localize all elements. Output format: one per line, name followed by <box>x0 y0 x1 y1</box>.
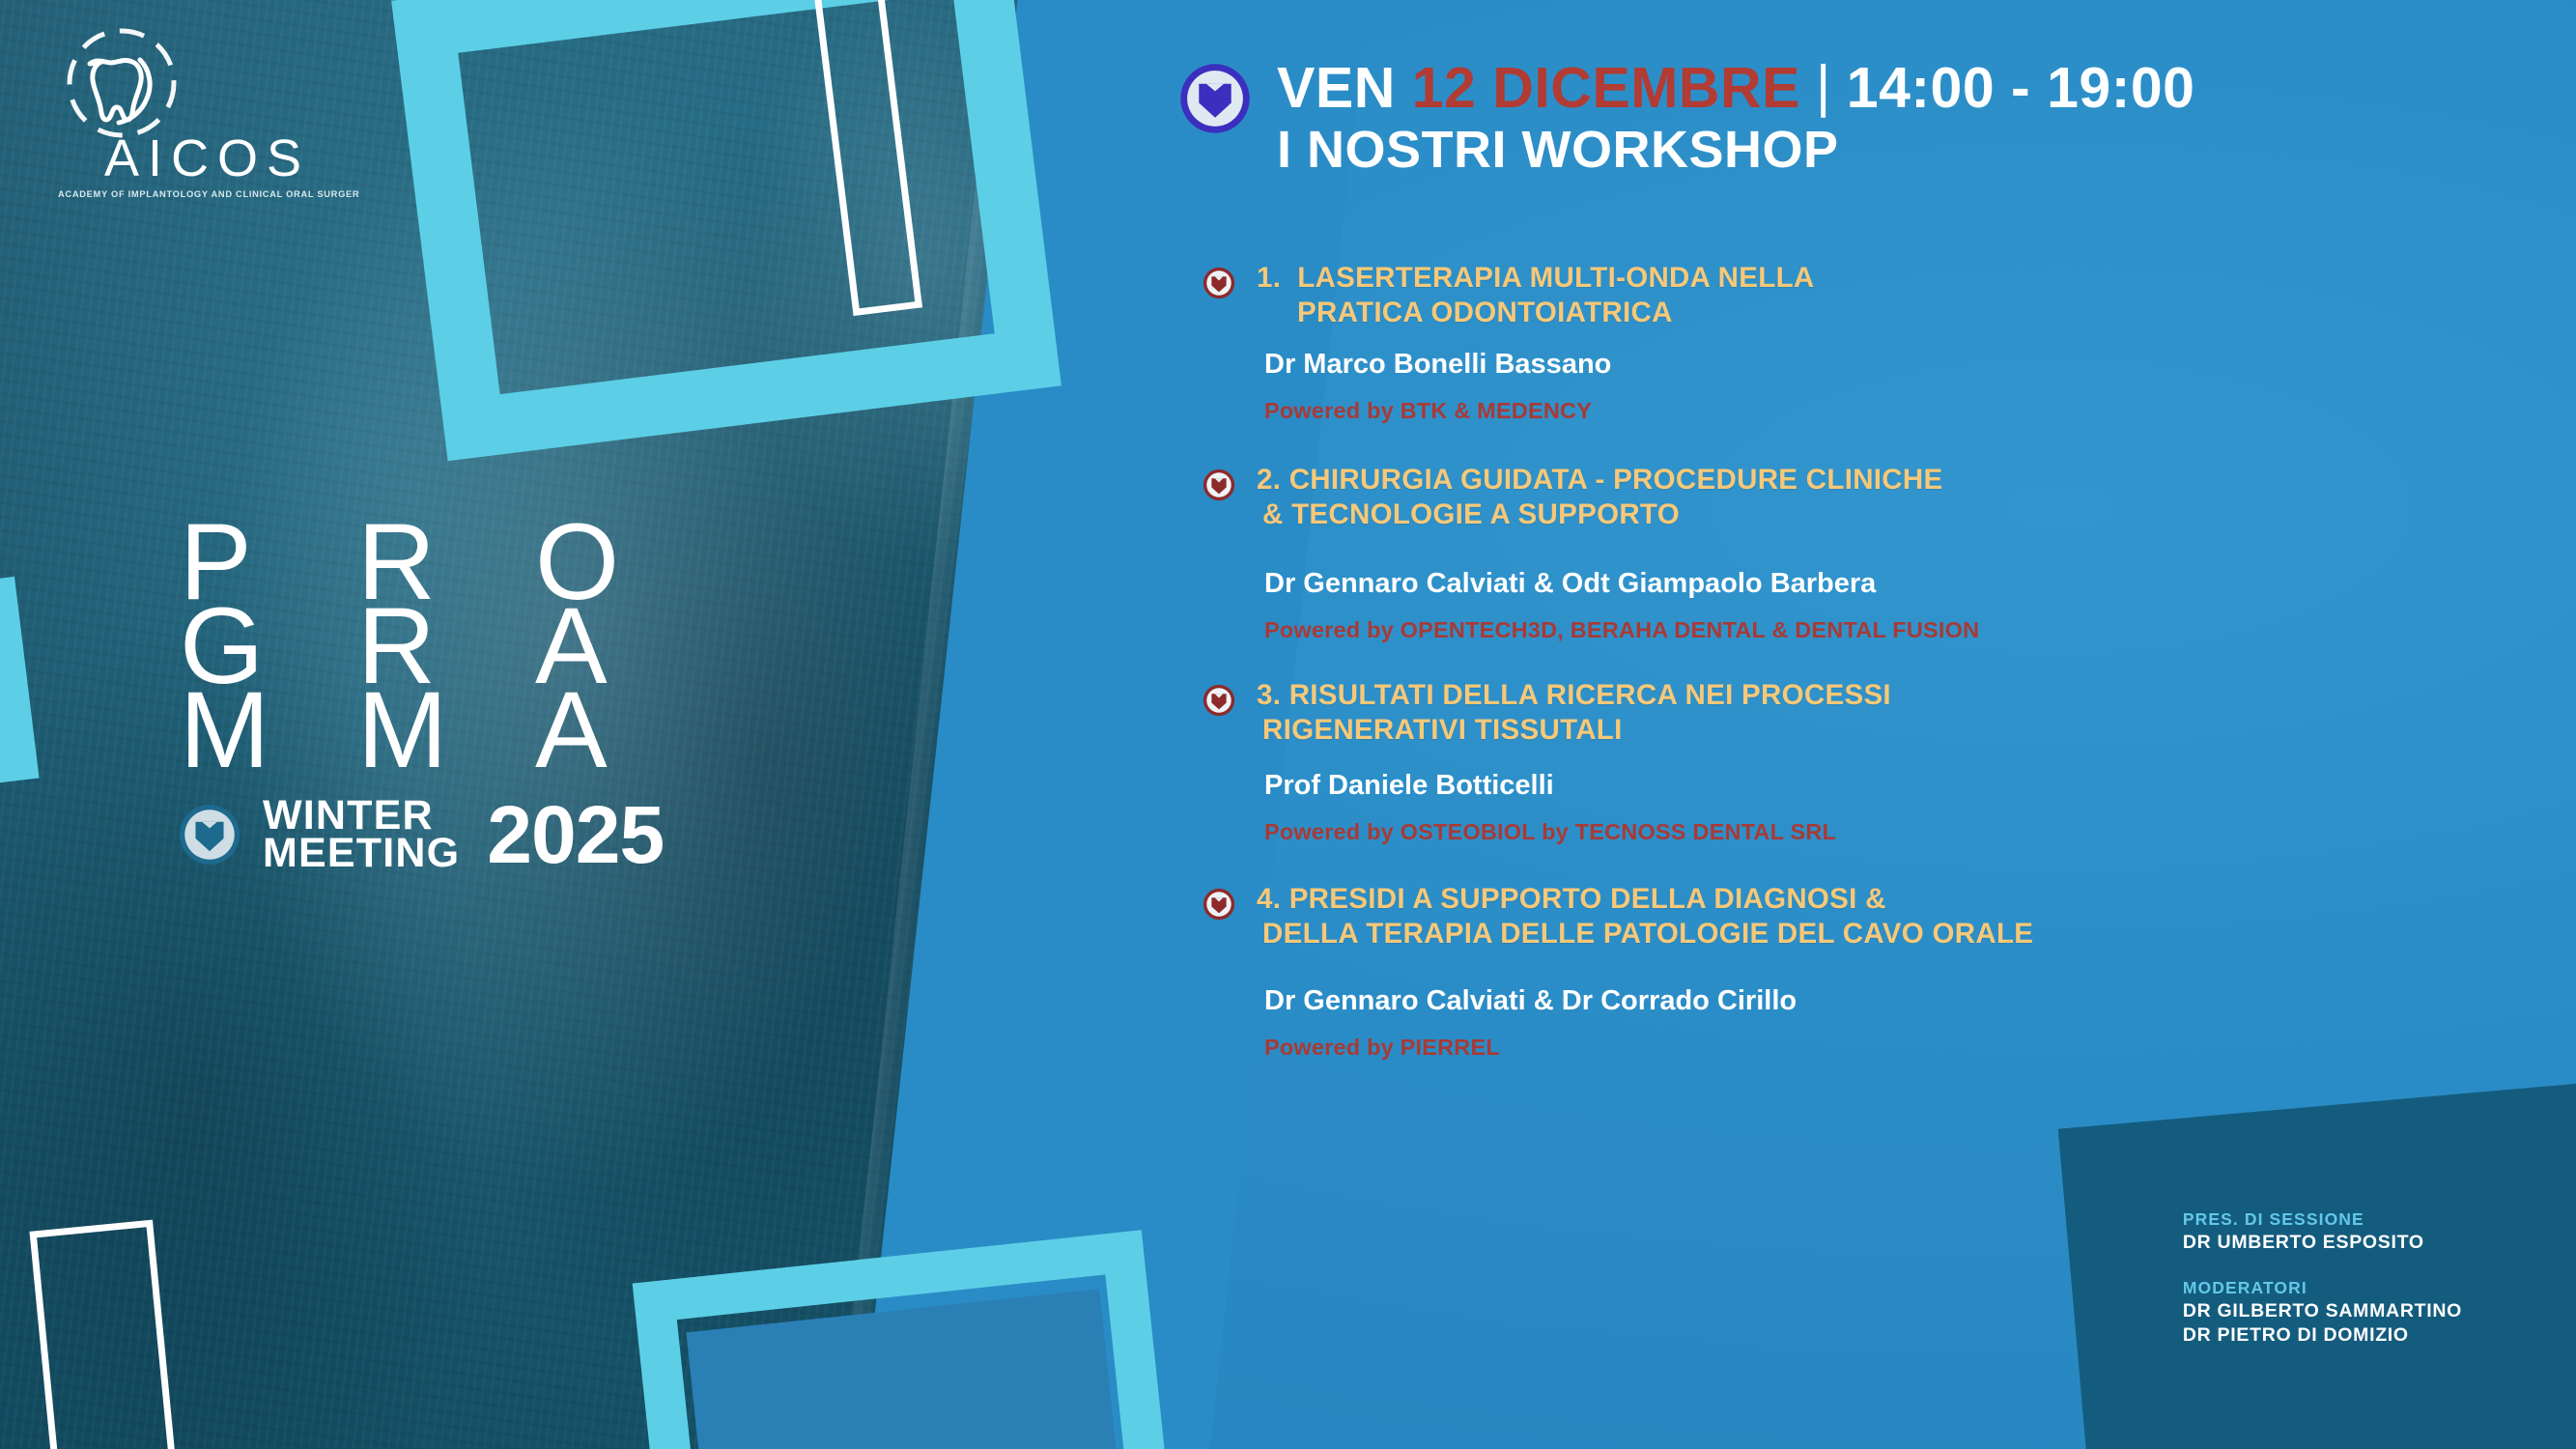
workshop-title-line-2: DELLA TERAPIA DELLE PATOLOGIE DEL CAVO O… <box>1257 918 2033 950</box>
workshop-title-line-2: PRATICA ODONTOIATRICA <box>1257 297 1673 328</box>
session-header-line-1: VEN 12 DICEMBRE|14:00 - 19:00 <box>1277 56 2195 120</box>
workshop-title-line-1: LASERTERAPIA MULTI-ONDA NELLA <box>1297 262 1814 294</box>
workshop-title-line-2: & TECNOLOGIE A SUPPORTO <box>1257 498 1680 530</box>
credits-block: PRES. DI SESSIONE DR UMBERTO ESPOSITO MO… <box>2183 1207 2462 1348</box>
president-name: DR UMBERTO ESPOSITO <box>2183 1231 2462 1255</box>
programma-block: P R O G R A M M A WINTER MEETING 2025 <box>180 520 664 872</box>
programma-letter: M <box>357 688 473 772</box>
tooth-icon <box>70 31 174 135</box>
winter-meeting-text: WINTER MEETING <box>263 797 460 872</box>
workshop-speakers: Prof Daniele Botticelli <box>1257 769 2555 802</box>
moderator-name: DR GILBERTO SAMMARTINO <box>2183 1299 2462 1323</box>
decor-cyan-frame-top <box>391 0 1062 461</box>
workshop-speakers: Dr Gennaro Calviati & Dr Corrado Cirillo <box>1257 984 2555 1017</box>
workshop-number: 2. <box>1257 464 1281 496</box>
workshop-speakers: Dr Gennaro Calviati & Odt Giampaolo Barb… <box>1257 567 2555 600</box>
credits-spacer <box>2183 1255 2462 1276</box>
programma-letter: A <box>535 688 651 772</box>
session-header-lines: VEN 12 DICEMBRE|14:00 - 19:00 I NOSTRI W… <box>1277 56 2195 180</box>
poster-root: AICOS ACADEMY OF IMPLANTOLOGY AND CLINIC… <box>0 0 2576 1449</box>
programma-letter-grid: P R O G R A M M A <box>180 520 664 772</box>
session-header: VEN 12 DICEMBRE|14:00 - 19:00 I NOSTRI W… <box>1178 56 2195 180</box>
workshop-title-line-1: CHIRURGIA GUIDATA - PROCEDURE CLINICHE <box>1289 464 1943 496</box>
header-day: VEN <box>1277 56 1396 120</box>
event-year: 2025 <box>487 801 664 868</box>
session-subtitle: I NOSTRI WORKSHOP <box>1277 120 2195 180</box>
programma-letter: M <box>180 688 296 772</box>
header-date: 12 DICEMBRE <box>1412 56 1800 120</box>
header-time: 14:00 - 19:00 <box>1847 56 2195 120</box>
aicos-wordmark: AICOS <box>104 129 310 187</box>
shield-chevron-bullet-icon <box>1203 684 1235 717</box>
workshop-title: 1. LASERTERAPIA MULTI-ONDA NELLA PRATICA… <box>1257 261 2555 330</box>
workshop-powered-by: Powered by BTK & MEDENCY <box>1257 397 2555 424</box>
workshop-title: 3. RISULTATI DELLA RICERCA NEI PROCESSI … <box>1257 678 2555 748</box>
shield-chevron-bullet-icon <box>1203 469 1235 501</box>
event-line-2: MEETING <box>263 835 460 872</box>
workshop-powered-by: Powered by PIERREL <box>1257 1034 2555 1061</box>
president-label: PRES. DI SESSIONE <box>2183 1207 2462 1231</box>
header-separator: | <box>1816 54 1831 118</box>
workshop-powered-by: Powered by OPENTECH3D, BERAHA DENTAL & D… <box>1257 616 2555 643</box>
workshop-title-line-1: RISULTATI DELLA RICERCA NEI PROCESSI <box>1289 679 1891 711</box>
moderators-label: MODERATORI <box>2183 1276 2462 1299</box>
workshop-title: 2. CHIRURGIA GUIDATA - PROCEDURE CLINICH… <box>1257 463 2555 532</box>
workshop-title: 4. PRESIDI A SUPPORTO DELLA DIAGNOSI & D… <box>1257 882 2555 952</box>
workshop-title-line-2: RIGENERATIVI TISSUTALI <box>1257 714 1623 746</box>
workshop-item[interactable]: 3. RISULTATI DELLA RICERCA NEI PROCESSI … <box>1203 678 2555 845</box>
winter-meeting-row: WINTER MEETING 2025 <box>178 797 664 872</box>
workshop-title-line-1: PRESIDI A SUPPORTO DELLA DIAGNOSI & <box>1289 883 1886 915</box>
workshop-number: 4. <box>1257 883 1281 915</box>
workshop-item[interactable]: 2. CHIRURGIA GUIDATA - PROCEDURE CLINICH… <box>1203 463 2555 643</box>
shield-chevron-bullet-icon <box>1203 888 1235 921</box>
workshop-number: 1. <box>1257 262 1281 294</box>
workshop-list: 1. LASERTERAPIA MULTI-ONDA NELLA PRATICA… <box>1203 261 2555 1090</box>
shield-chevron-icon <box>178 803 241 867</box>
workshop-speakers: Dr Marco Bonelli Bassano <box>1257 348 2555 381</box>
workshop-item[interactable]: 1. LASERTERAPIA MULTI-ONDA NELLA PRATICA… <box>1203 261 2555 424</box>
aicos-logo-svg: AICOS ACADEMY OF IMPLANTOLOGY AND CLINIC… <box>41 14 359 207</box>
shield-chevron-icon <box>1178 62 1252 135</box>
aicos-tagline: ACADEMY OF IMPLANTOLOGY AND CLINICAL ORA… <box>58 189 359 199</box>
workshop-powered-by: Powered by OSTEOBIOL by TECNOSS DENTAL S… <box>1257 818 2555 845</box>
workshop-number: 3. <box>1257 679 1281 711</box>
shield-chevron-bullet-icon <box>1203 267 1235 299</box>
moderator-name: DR PIETRO DI DOMIZIO <box>2183 1323 2462 1348</box>
workshop-item[interactable]: 4. PRESIDI A SUPPORTO DELLA DIAGNOSI & D… <box>1203 882 2555 1061</box>
aicos-logo: AICOS ACADEMY OF IMPLANTOLOGY AND CLINIC… <box>41 14 359 207</box>
